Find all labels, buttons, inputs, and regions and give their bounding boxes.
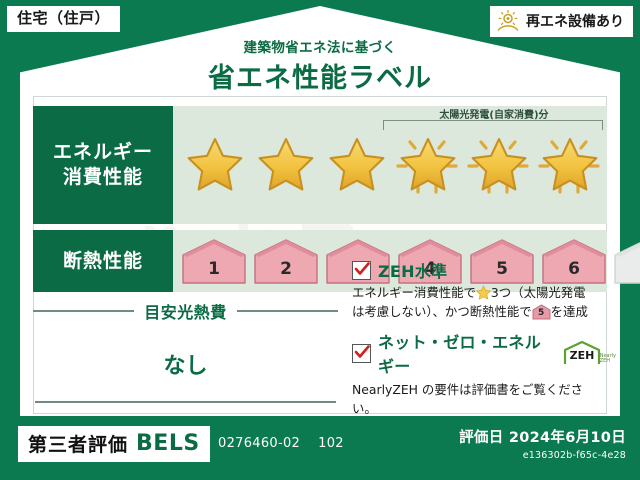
zeh-block: ZEH水準 エネルギー消費性能で3つ（太陽光発電は考慮しない）、かつ断熱性能で5… (352, 258, 604, 426)
label-subtitle: 建築物省エネ法に基づく (0, 36, 640, 56)
insulation-level-1: 1 (179, 237, 249, 285)
bels-badge: 第三者評価 BELS (18, 426, 210, 462)
insulation-level-number: 7 (611, 259, 640, 279)
star-glyph (400, 136, 456, 192)
utility-cost-heading: 目安光熱費 (33, 300, 338, 322)
footer: 第三者評価 BELS 0276460-02102 評価日 2024年6月10日 … (0, 418, 640, 480)
zeh-desc-part3: を達成 (551, 304, 588, 319)
zeh-standard-description: エネルギー消費性能で3つ（太陽光発電は考慮しない）、かつ断熱性能で5を達成 (352, 284, 604, 321)
zeh-desc-part2: は考慮しない）、かつ断熱性能で (352, 304, 532, 319)
page-title: 省エネ性能ラベル (0, 56, 640, 95)
energy-label-line1: エネルギー (53, 140, 153, 165)
net-zero-checkbox (352, 344, 371, 363)
evaluation-date: 評価日 2024年6月10日 (459, 426, 626, 447)
evaluation-date-label: 評価日 (459, 430, 503, 446)
mini-insulation-badge: 5 (532, 304, 551, 320)
renewable-equipment-badge: 再エネ設備あり (489, 5, 634, 38)
document-id: e136302b-f65c-4e28 (459, 450, 626, 461)
zeh-desc-stars: 3つ（太陽光発電 (491, 285, 586, 300)
star-glyph (187, 136, 243, 192)
utility-cost-value: なし (33, 348, 338, 380)
star-3 (321, 128, 391, 200)
energy-label-line2: 消費性能 (63, 165, 143, 190)
utility-cost-heading-text: 目安光熱費 (134, 299, 237, 323)
energy-performance-label: エネルギー 消費性能 (33, 106, 173, 224)
utility-cost-block: 目安光熱費 なし (33, 300, 338, 412)
mini-star-icon (476, 285, 491, 300)
evaluation-date-value: 2024年6月10日 (509, 430, 626, 446)
heading-rule-right (237, 310, 338, 312)
sun-icon (496, 9, 520, 33)
svg-text:ZEH: ZEH (570, 349, 595, 362)
footer-right: 評価日 2024年6月10日 e136302b-f65c-4e28 (459, 426, 626, 461)
utility-cost-bottom-rule (35, 401, 336, 403)
heading-rule-left (33, 310, 134, 312)
energy-label-root: 住宅（住戸） 再エネ設備あり 建築物省エネ法に基づく 省エ (0, 0, 640, 480)
bels-label: BELS (136, 431, 200, 456)
cert-number-secondary: 102 (318, 436, 344, 451)
solar-note-label: 太陽光発電(自家消費)分 (381, 106, 607, 121)
energy-performance-value: 太陽光発電(自家消費)分 (173, 106, 607, 224)
zeh-logo-icon: ZEH NearlyZEH (560, 340, 604, 366)
cert-number-primary: 0276460-02 (218, 436, 300, 451)
certificate-number: 0276460-02102 (218, 436, 344, 451)
building-type-label: 住宅（住戸） (17, 9, 110, 27)
insulation-performance-label: 断熱性能 (33, 230, 173, 292)
net-zero-energy-row: ネット・ゼロ・エネルギー ZEH NearlyZEH (352, 329, 604, 377)
zeh-standard-title: ZEH水準 (378, 258, 447, 282)
zeh-desc-part1: エネルギー消費性能で (352, 285, 476, 300)
star-glyph (258, 136, 314, 192)
insulation-level-7: 7 (611, 237, 640, 285)
star-6 (534, 128, 604, 200)
star-glyph (542, 136, 598, 192)
zeh-standard-checkbox (352, 261, 371, 280)
star-2 (250, 128, 320, 200)
zeh-logo-subtext: NearlyZEH (600, 354, 616, 364)
mini-badge-number: 5 (532, 307, 551, 321)
energy-performance-row: エネルギー 消費性能 太陽光発電(自家消費)分 (33, 106, 607, 224)
star-glyph (471, 136, 527, 192)
star-1 (179, 128, 249, 200)
net-zero-title: ネット・ゼロ・エネルギー (378, 329, 553, 377)
third-party-label: 第三者評価 (28, 430, 128, 457)
zeh-standard-row: ZEH水準 (352, 258, 604, 282)
insulation-label-line1: 断熱性能 (63, 249, 143, 274)
insulation-level-number: 1 (179, 259, 249, 279)
star-5 (463, 128, 533, 200)
insulation-level-2: 2 (251, 237, 321, 285)
renewable-label: 再エネ設備あり (526, 11, 624, 31)
star-glyph (329, 136, 385, 192)
insulation-level-number: 2 (251, 259, 321, 279)
building-type-badge: 住宅（住戸） (6, 5, 121, 33)
star-rating (179, 128, 604, 200)
net-zero-description: NearlyZEH の要件は評価書をご覧ください。 (352, 381, 604, 418)
star-4 (392, 128, 462, 200)
